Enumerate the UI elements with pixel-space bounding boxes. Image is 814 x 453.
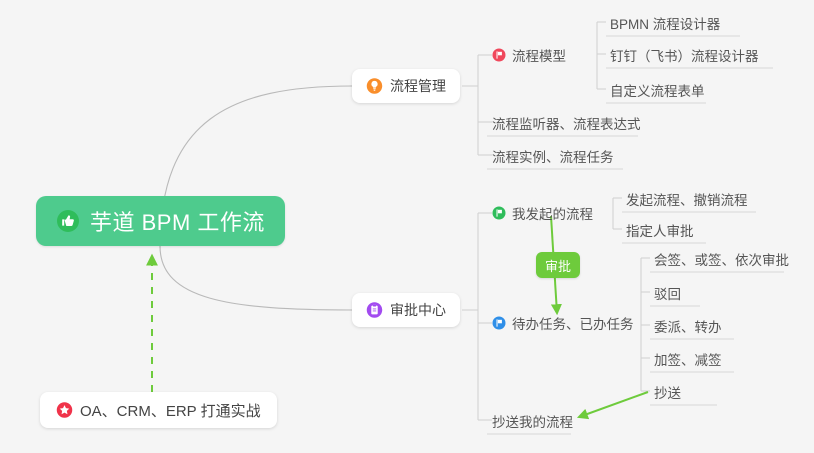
node-my-initiated-process[interactable]: 我发起的流程 bbox=[492, 201, 593, 225]
process-listener-expression-label: 流程监听器、流程表达式 bbox=[492, 116, 641, 133]
cc-to-me-process-label: 抄送我的流程 bbox=[492, 414, 573, 431]
process-management-label: 流程管理 bbox=[390, 76, 446, 96]
mindmap-canvas: 芋道 BPM 工作流 OA、CRM、ERP 打通实战 流程管理 bbox=[0, 0, 814, 453]
custom-process-form-label: 自定义流程表单 bbox=[610, 83, 705, 100]
node-note-oa-crm-erp[interactable]: OA、CRM、ERP 打通实战 bbox=[40, 392, 277, 428]
node-custom-process-form[interactable]: 自定义流程表单 bbox=[604, 79, 711, 103]
dingtalk-feishu-designer-label: 钉钉（飞书）流程设计器 bbox=[610, 48, 759, 65]
flag-blue-icon bbox=[492, 316, 506, 330]
reject-label: 驳回 bbox=[654, 286, 681, 303]
flag-green-icon bbox=[492, 206, 506, 220]
countersign-or-sequential-label: 会签、或签、依次审批 bbox=[654, 252, 789, 269]
node-dingtalk-feishu-designer[interactable]: 钉钉（飞书）流程设计器 bbox=[604, 44, 765, 68]
approval-center-label: 审批中心 bbox=[390, 300, 446, 320]
node-bpmn-designer[interactable]: BPMN 流程设计器 bbox=[604, 12, 726, 36]
node-countersign-or-sequential[interactable]: 会签、或签、依次审批 bbox=[648, 248, 795, 272]
node-delegate-transfer[interactable]: 委派、转办 bbox=[648, 315, 728, 339]
node-start-cancel-process[interactable]: 发起流程、撤销流程 bbox=[620, 188, 754, 212]
flag-red-icon bbox=[492, 48, 506, 62]
delegate-transfer-label: 委派、转办 bbox=[654, 319, 722, 336]
node-process-model[interactable]: 流程模型 bbox=[492, 43, 566, 67]
root-label: 芋道 BPM 工作流 bbox=[90, 205, 265, 237]
clipboard-icon bbox=[366, 302, 383, 319]
link-root-to-approval-center bbox=[160, 246, 352, 310]
node-assignee-approval[interactable]: 指定人审批 bbox=[620, 219, 700, 243]
node-approval-center[interactable]: 审批中心 bbox=[352, 293, 460, 327]
node-cc[interactable]: 抄送 bbox=[648, 381, 687, 405]
node-cc-to-me-process[interactable]: 抄送我的流程 bbox=[486, 410, 579, 434]
bpmn-designer-label: BPMN 流程设计器 bbox=[610, 16, 720, 33]
arrow-cc-to-ccmine bbox=[579, 392, 648, 417]
approval-tag-label: 审批 bbox=[545, 256, 571, 275]
start-cancel-process-label: 发起流程、撤销流程 bbox=[626, 192, 748, 209]
process-instance-task-label: 流程实例、流程任务 bbox=[492, 149, 614, 166]
star-icon bbox=[56, 402, 73, 419]
node-reject[interactable]: 驳回 bbox=[648, 282, 687, 306]
thumbs-up-icon bbox=[56, 209, 80, 233]
cc-label: 抄送 bbox=[654, 385, 681, 402]
todo-done-task-label: 待办任务、已办任务 bbox=[512, 313, 634, 333]
node-approval-tag[interactable]: 审批 bbox=[536, 252, 580, 278]
node-process-instance-task[interactable]: 流程实例、流程任务 bbox=[486, 145, 620, 169]
node-root[interactable]: 芋道 BPM 工作流 bbox=[36, 196, 285, 246]
assignee-approval-label: 指定人审批 bbox=[626, 223, 694, 240]
process-model-label: 流程模型 bbox=[512, 45, 566, 65]
add-remove-sign-label: 加签、减签 bbox=[654, 352, 722, 369]
node-process-management[interactable]: 流程管理 bbox=[352, 69, 460, 103]
node-process-listener-expression[interactable]: 流程监听器、流程表达式 bbox=[486, 112, 647, 136]
node-todo-done-task[interactable]: 待办任务、已办任务 bbox=[492, 311, 634, 335]
node-add-remove-sign[interactable]: 加签、减签 bbox=[648, 348, 728, 372]
my-initiated-process-label: 我发起的流程 bbox=[512, 203, 593, 223]
lightbulb-icon bbox=[366, 78, 383, 95]
note-label: OA、CRM、ERP 打通实战 bbox=[80, 400, 261, 421]
